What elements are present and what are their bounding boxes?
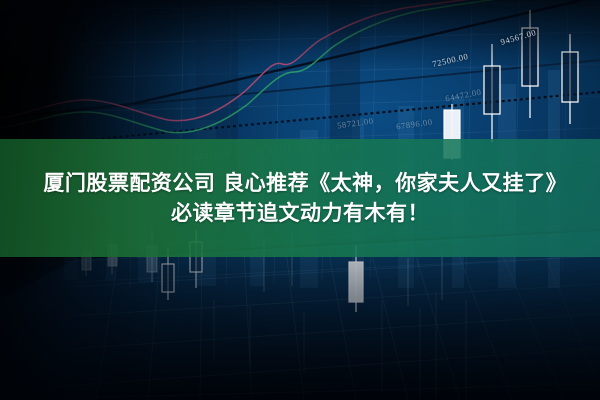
chart-banner-image: 94567.00 72500.00 64472.00 58721.00 6789… bbox=[0, 0, 600, 400]
banner-headline: 厦门股票配资公司 良心推荐《太神，你家夫人又挂了》必读章节追文动力有木有！ bbox=[40, 168, 560, 229]
promo-banner: 厦门股票配资公司 良心推荐《太神，你家夫人又挂了》必读章节追文动力有木有！ bbox=[0, 139, 600, 257]
